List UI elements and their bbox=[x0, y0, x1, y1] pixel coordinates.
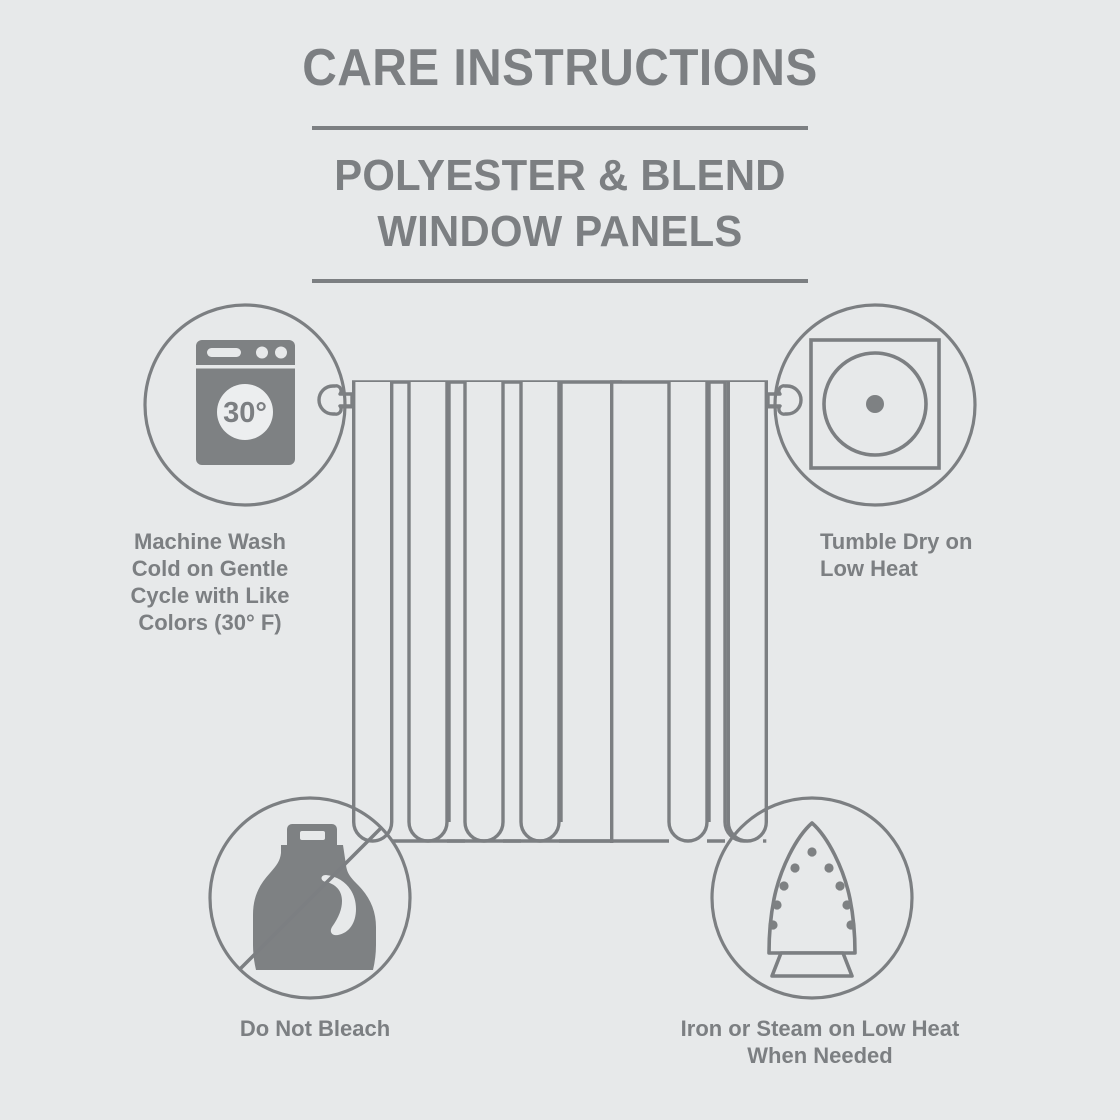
caption-tumble-dry: Tumble Dry on Low Heat bbox=[820, 528, 1080, 582]
symbol-do-not-bleach bbox=[210, 798, 410, 998]
symbol-tumble-dry bbox=[775, 305, 975, 505]
caption-do-not-bleach: Do Not Bleach bbox=[180, 1015, 450, 1042]
iron-icon bbox=[768, 823, 855, 976]
symbol-iron bbox=[712, 798, 912, 998]
curtain-panel-left bbox=[352, 382, 622, 843]
divider-top bbox=[312, 126, 808, 130]
curtain-illustration bbox=[319, 382, 801, 843]
subtitle-line-2: WINDOW PANELS bbox=[28, 204, 1092, 260]
divider-bottom bbox=[312, 279, 808, 283]
subtitle-line-1: POLYESTER & BLEND bbox=[334, 151, 786, 200]
care-instructions-infographic: 30° bbox=[0, 0, 1120, 1120]
symbol-machine-wash: 30° bbox=[145, 305, 345, 505]
curtain-finial-right bbox=[768, 386, 801, 414]
caption-machine-wash: Machine Wash Cold on Gentle Cycle with L… bbox=[60, 528, 360, 636]
washing-machine-icon: 30° bbox=[196, 340, 295, 465]
caption-iron: Iron or Steam on Low Heat When Needed bbox=[600, 1015, 1040, 1069]
page-title: CARE INSTRUCTIONS bbox=[45, 38, 1075, 98]
page-subtitle: POLYESTER & BLEND WINDOW PANELS bbox=[28, 148, 1092, 260]
tumble-dry-icon bbox=[811, 340, 939, 468]
curtain-panel-right bbox=[610, 382, 768, 843]
wash-temp-badge: 30° bbox=[223, 397, 267, 429]
curtain-finial-left bbox=[319, 386, 352, 414]
